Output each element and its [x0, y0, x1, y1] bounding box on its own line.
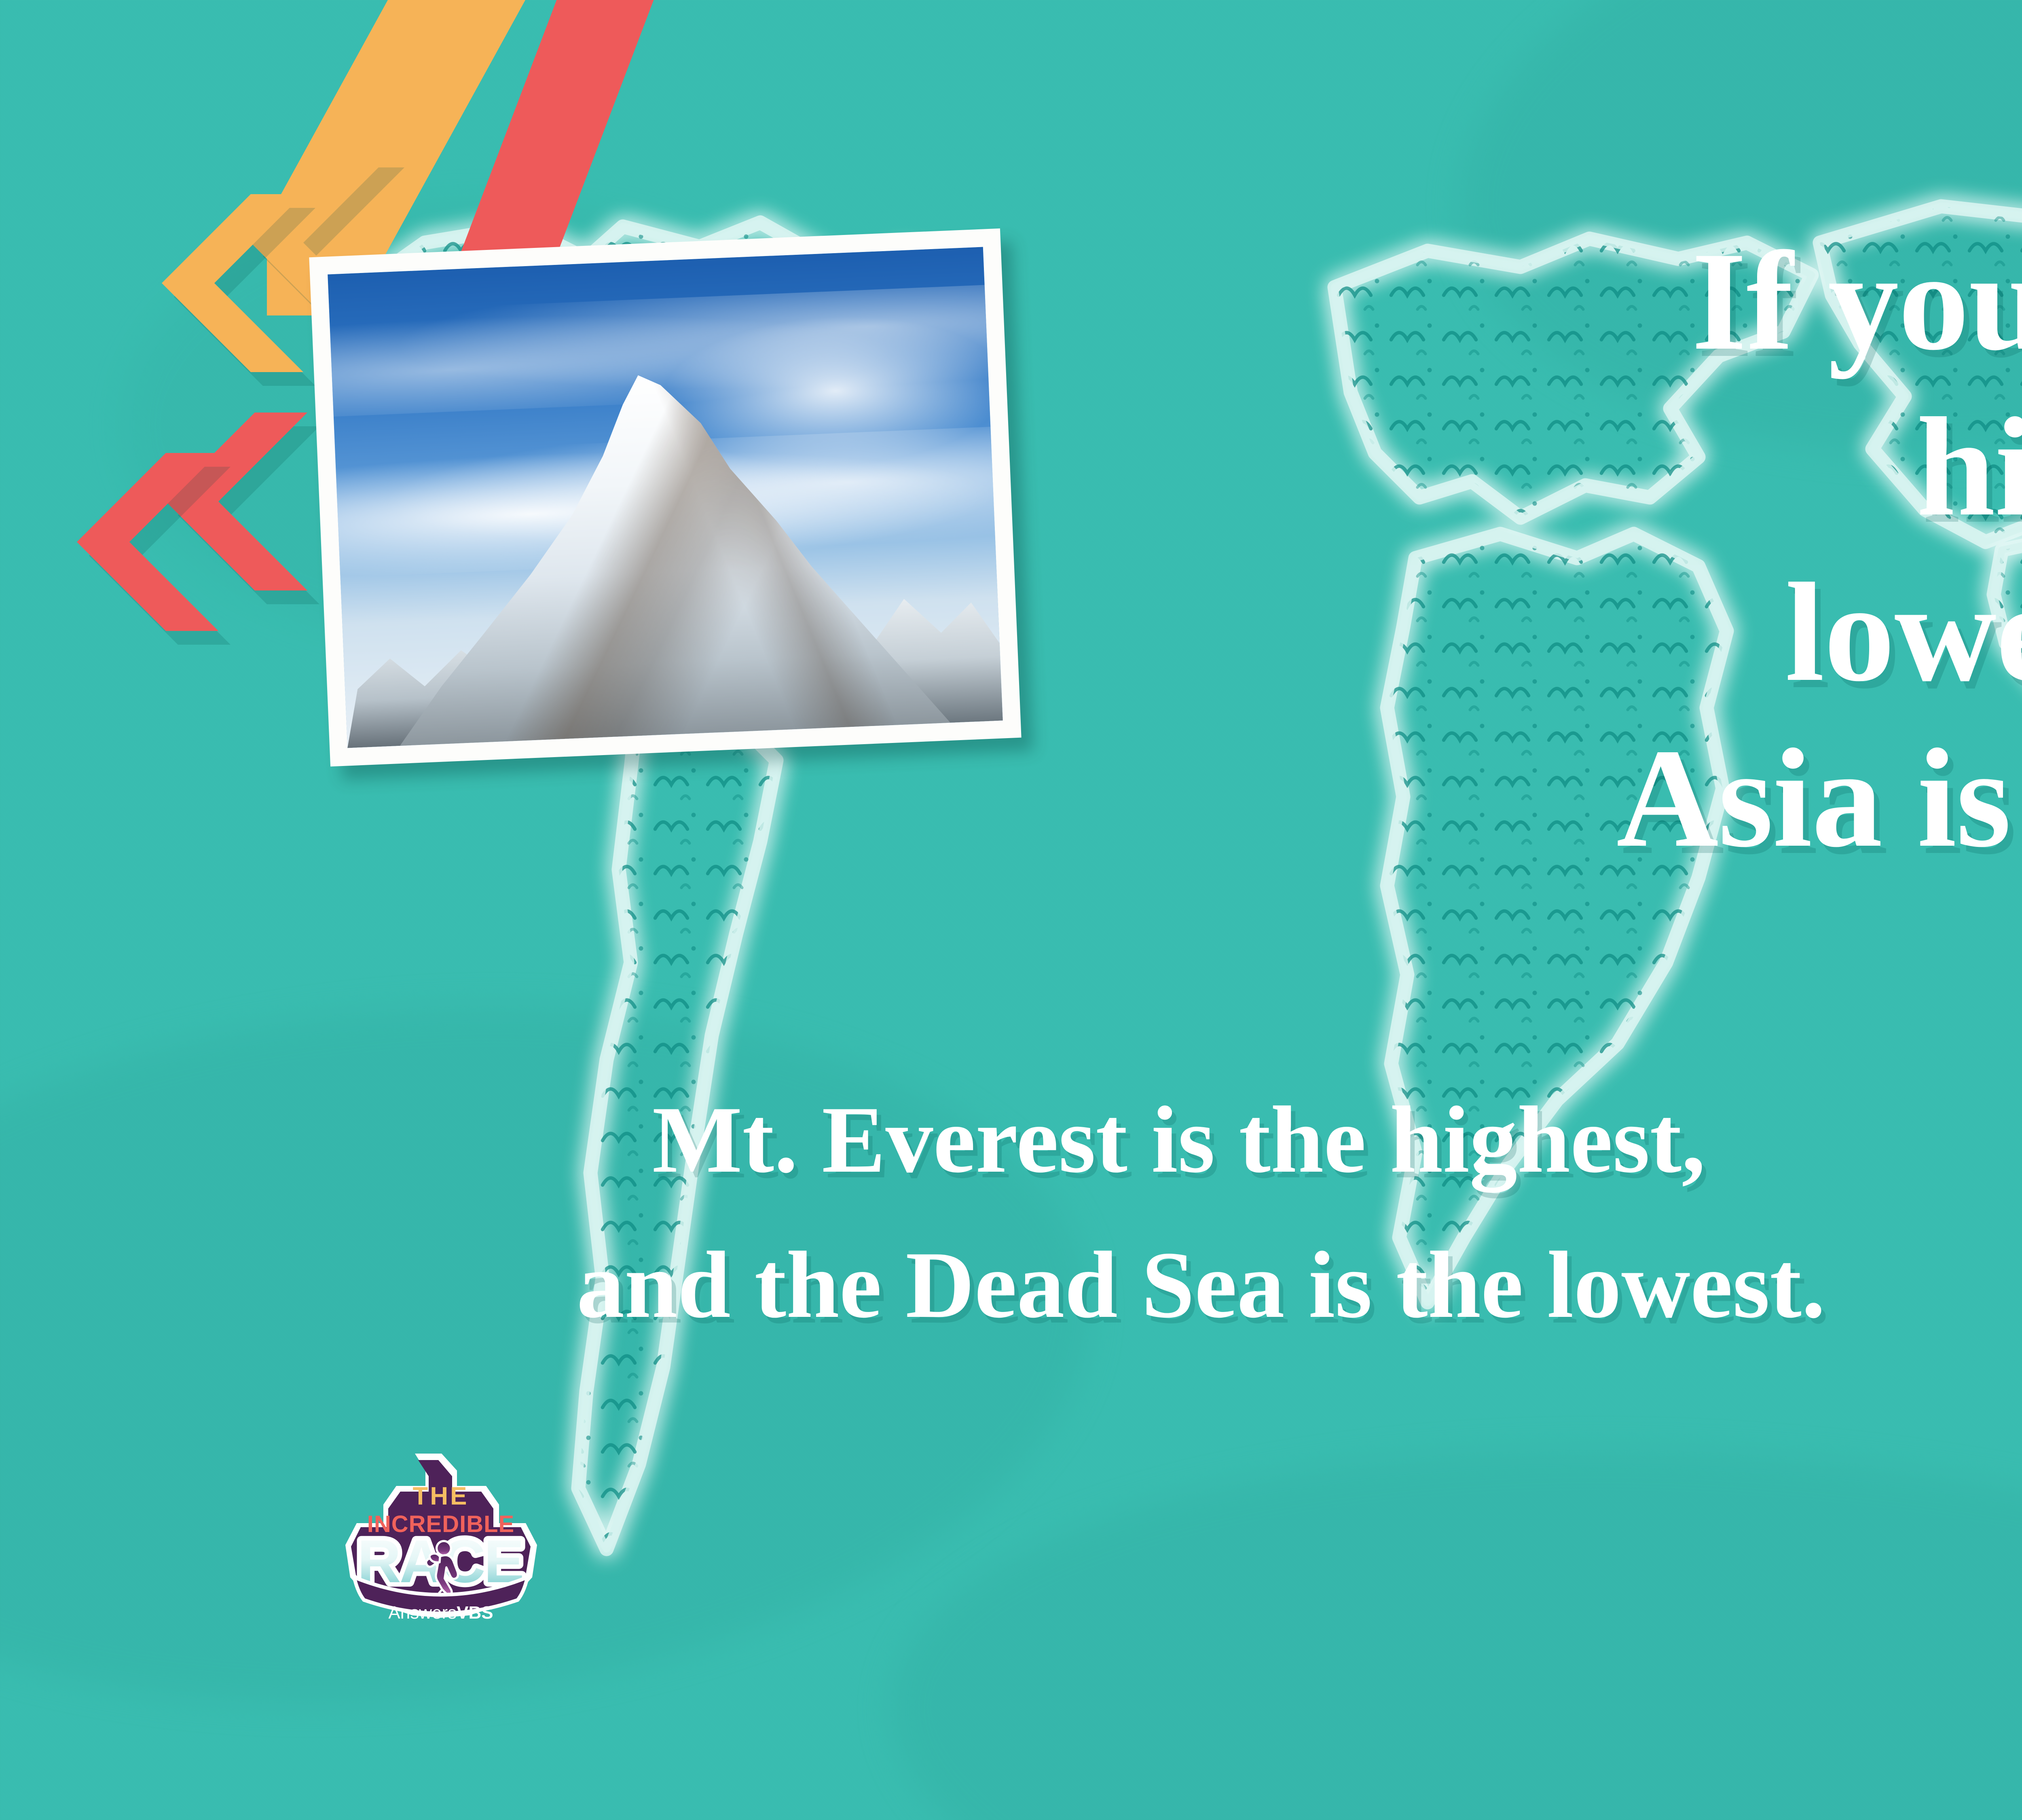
- mount-everest-photo[interactable]: [309, 229, 1021, 767]
- logo-word-the: THE: [413, 1482, 469, 1510]
- subtext-line: Mt. Everest is the highest,: [251, 1068, 2022, 1213]
- slide-canvas: If you want to go to the highest point o…: [0, 0, 2022, 1820]
- subtext-block: Mt. Everest is the highest, and the Dead…: [251, 1068, 2022, 1358]
- chevron-left-orange-2: [129, 194, 340, 372]
- headline-line: If you want to go to the: [946, 218, 2022, 384]
- chevron-left-red-2: [44, 453, 255, 631]
- mountain-image: [328, 247, 1003, 748]
- subtext-line: and the Dead Sea is the lowest.: [251, 1213, 2022, 1358]
- logo-brand: AnswersVBS: [388, 1603, 493, 1623]
- logo-svg: THE INCREDIBLE RACE RACE AnswersVBS: [336, 1444, 546, 1634]
- headline-text: If you want to go to the highest point o…: [946, 218, 2022, 881]
- incredible-race-logo[interactable]: THE INCREDIBLE RACE RACE AnswersVBS: [336, 1444, 546, 1634]
- headline-line: lowest point on earth,: [946, 550, 2022, 715]
- headline-line: highest point or the: [946, 384, 2022, 550]
- headline-line: Asia is the place for you.: [946, 715, 2022, 881]
